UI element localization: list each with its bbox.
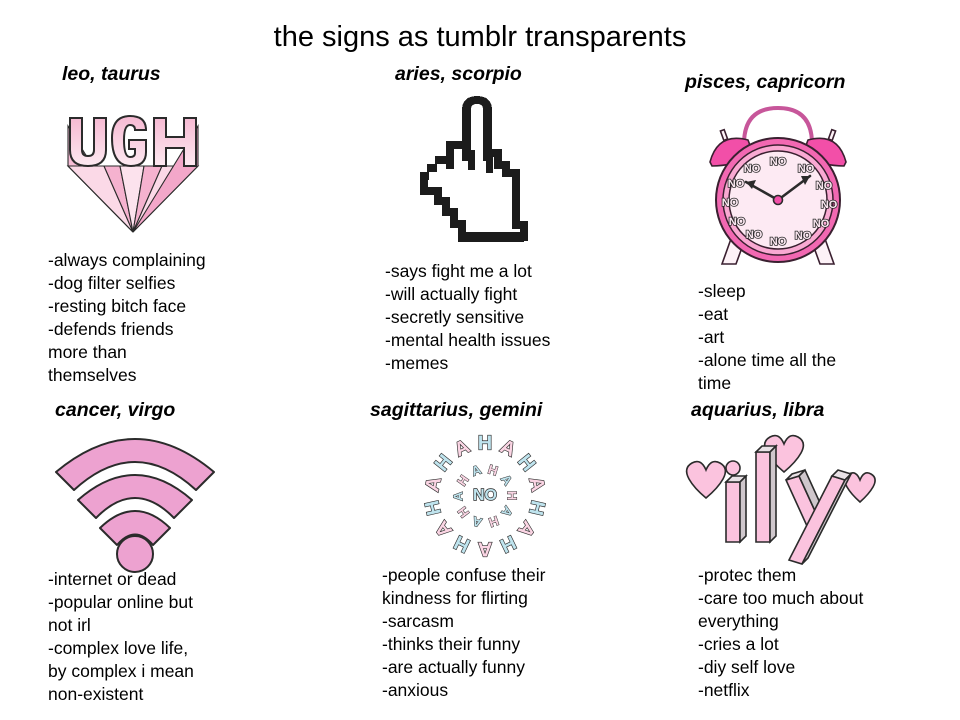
- haha-letter: H: [431, 451, 457, 476]
- heart-icon-left: [687, 462, 726, 498]
- panel-traits-pisces-capricorn: -sleep -eat -art -alone time all the tim…: [698, 280, 948, 395]
- haha-letter: H: [486, 462, 499, 479]
- haha-letter: A: [470, 513, 484, 530]
- panel-traits-aquarius-libra: -protec them -care too much about everyt…: [698, 564, 948, 702]
- svg-text:NO: NO: [795, 230, 812, 242]
- svg-text:NO: NO: [821, 199, 838, 211]
- haha-letter: H: [454, 472, 472, 488]
- haha-letter: A: [451, 435, 474, 461]
- haha-letter: A: [524, 475, 549, 494]
- panel-heading-aries-scorpio: aries, scorpio: [395, 62, 522, 86]
- svg-text:NO: NO: [728, 178, 745, 190]
- meme-image: the signs as tumblr transparents leo, ta…: [0, 0, 960, 720]
- haha-center-text: NO: [473, 487, 497, 504]
- panel-traits-aries-scorpio: -says fight me a lot -will actually figh…: [385, 260, 635, 375]
- haha-letter: A: [431, 516, 457, 541]
- haha-letter: H: [497, 530, 520, 556]
- haha-letter: H: [487, 513, 501, 530]
- panel-traits-cancer-virgo: -internet or dead -popular online but no…: [48, 568, 298, 706]
- svg-text:NO: NO: [744, 163, 761, 175]
- svg-text:NO: NO: [770, 236, 787, 248]
- svg-text:NO: NO: [722, 197, 739, 209]
- pink-wifi-signal-icon: [50, 428, 220, 573]
- haha-letter: A: [421, 475, 446, 494]
- haha-letter: A: [450, 491, 465, 501]
- haha-letter: H: [504, 491, 519, 501]
- svg-text:NO: NO: [798, 163, 815, 175]
- haha-letter: H: [513, 451, 539, 476]
- panel-heading-leo-taurus: leo, taurus: [62, 62, 161, 86]
- haha-letter: A: [478, 538, 492, 560]
- panel-heading-sagittarius-gemini: sagittarius, gemini: [370, 398, 542, 422]
- panel-traits-leo-taurus: -always complaining -dog filter selfies …: [48, 249, 298, 387]
- haha-spiral-graphic: HAHAHAHAHAHAHA HAHAHAHAHA NO: [405, 426, 565, 566]
- haha-letter: A: [498, 472, 516, 489]
- haha-letter: H: [451, 530, 474, 556]
- haha-letter: H: [421, 498, 446, 517]
- haha-letter: A: [513, 516, 539, 541]
- haha-letter: A: [497, 435, 520, 461]
- haha-letter: H: [478, 432, 492, 454]
- ugh-3d-text-graphic: [58, 104, 208, 234]
- pixel-middle-finger-cursor: [405, 94, 550, 259]
- haha-letter: A: [469, 462, 483, 479]
- ily-hearts-graphic: [680, 418, 895, 568]
- panel-heading-pisces-capricorn: pisces, capricorn: [685, 70, 845, 94]
- panel-heading-cancer-virgo: cancer, virgo: [55, 398, 175, 422]
- haha-letter: H: [524, 498, 549, 517]
- haha-letter: H: [455, 504, 473, 521]
- svg-text:NO: NO: [729, 216, 746, 228]
- svg-text:NO: NO: [813, 218, 830, 230]
- haha-letter: A: [498, 503, 516, 520]
- svg-text:NO: NO: [770, 156, 787, 168]
- svg-text:NO: NO: [816, 180, 833, 192]
- svg-text:NO: NO: [746, 229, 763, 241]
- page-title: the signs as tumblr transparents: [0, 20, 960, 54]
- pink-alarm-clock-no: NO NO NO NO NO NO NO NO NO NO NO NO: [688, 100, 868, 275]
- panel-traits-sagittarius-gemini: -people confuse their kindness for flirt…: [382, 564, 632, 702]
